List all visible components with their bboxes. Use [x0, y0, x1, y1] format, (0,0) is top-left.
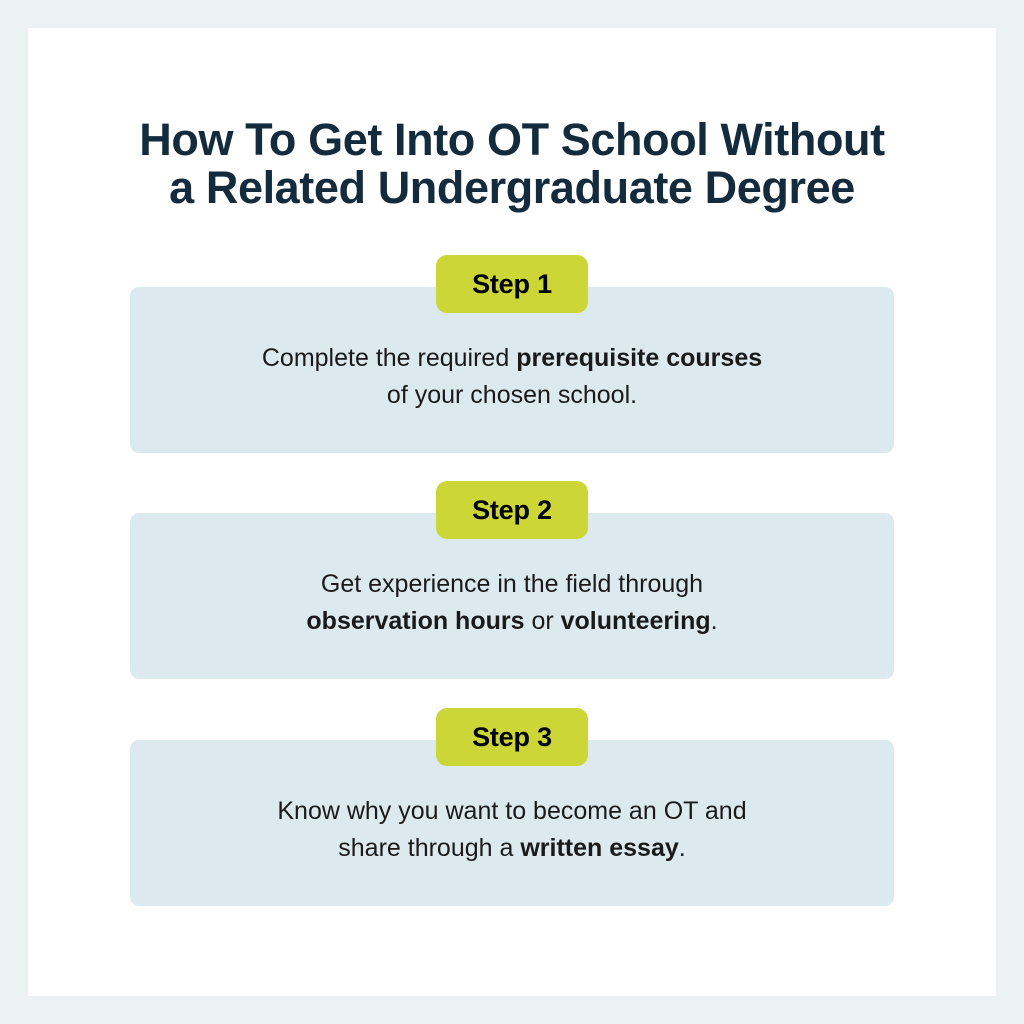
step-text-line-2: share through a written essay.	[338, 830, 685, 867]
text-run: .	[679, 834, 686, 862]
step-text-line-1: Complete the required prerequisite cours…	[262, 340, 762, 377]
step-text-line-2: observation hours or volunteering.	[306, 603, 717, 640]
step-text-line-1: Know why you want to become an OT and	[277, 793, 746, 830]
step-badge-label: Step 3	[472, 724, 552, 751]
text-run: .	[711, 607, 718, 635]
text-run-emphasis: prerequisite courses	[516, 344, 762, 372]
text-run-emphasis: volunteering	[561, 607, 711, 635]
text-run: Get experience in the field through	[321, 570, 703, 598]
text-run-emphasis: written essay	[520, 834, 678, 862]
text-run: of your chosen school.	[387, 381, 637, 409]
step-badge-label: Step 1	[472, 271, 552, 298]
step-badge: Step 3	[436, 708, 588, 766]
text-run: share through a	[338, 834, 520, 862]
infographic-canvas: How To Get Into OT School Without a Rela…	[28, 28, 996, 996]
text-run: Know why you want to become an OT and	[277, 797, 746, 825]
step-badge: Step 2	[436, 481, 588, 539]
step-badge-label: Step 2	[472, 497, 552, 524]
step-text-line-1: Get experience in the field through	[321, 566, 703, 603]
step-text-line-2: of your chosen school.	[387, 377, 637, 414]
text-run: Complete the required	[262, 344, 516, 372]
text-run: or	[525, 607, 561, 635]
steps-list: Complete the required prerequisite cours…	[28, 28, 996, 996]
text-run-emphasis: observation hours	[306, 607, 524, 635]
outer-frame: How To Get Into OT School Without a Rela…	[0, 0, 1024, 1024]
step-badge: Step 1	[436, 255, 588, 313]
